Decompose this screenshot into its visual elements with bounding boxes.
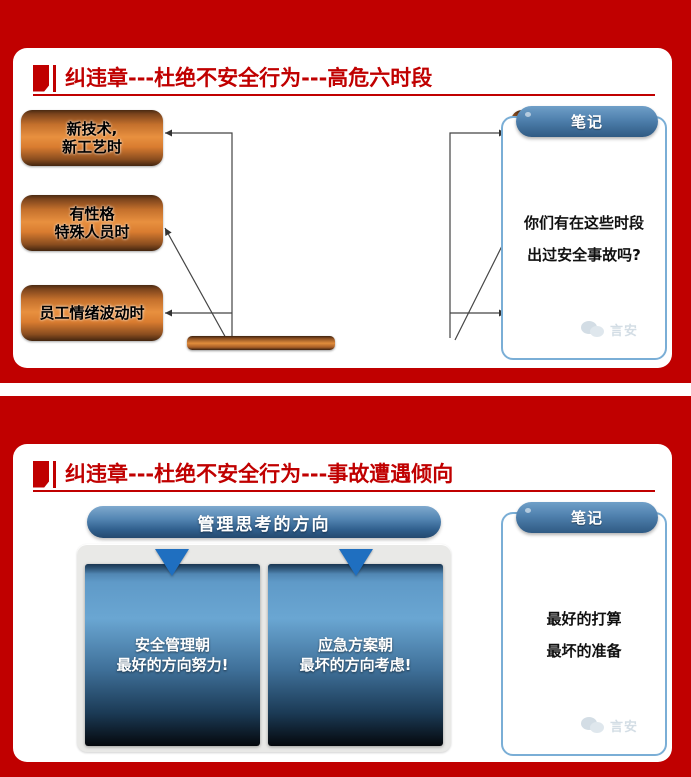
note-header-1-label: 笔记 xyxy=(571,111,603,132)
watermark-2: 言安 xyxy=(581,716,638,735)
management-direction-banner: 管理思考的方向 xyxy=(87,506,441,538)
slide2-content-panel: 纠违章---杜绝不安全行为---事故遭遇倾向 管理思考的方向 安全管理朝最好的方… xyxy=(13,444,672,762)
note-line-1: 最好的打算 xyxy=(503,604,665,636)
slide-deck: 纠违章---杜绝不安全行为---高危六时段 xyxy=(0,0,691,777)
note-card-2-body: 最好的打算 最坏的准备 xyxy=(503,604,665,667)
down-arrow-icon-1 xyxy=(155,549,189,576)
note-card-1: 你们有在这些时段 出过安全事故吗? 言安 xyxy=(501,116,667,360)
slide-high-risk-periods: 纠违章---杜绝不安全行为---高危六时段 xyxy=(0,0,691,383)
watermark-2-text: 言安 xyxy=(610,716,638,735)
note-line-1: 你们有在这些时段 xyxy=(503,208,665,240)
management-direction-banner-label: 管理思考的方向 xyxy=(198,510,331,535)
wechat-icon xyxy=(581,321,607,339)
source-bar xyxy=(187,336,335,350)
watermark-1-text: 言安 xyxy=(610,320,638,339)
note-card-2: 最好的打算 最坏的准备 言安 xyxy=(501,512,667,756)
page-flag-icon xyxy=(33,461,49,488)
direction-panel-1-label: 安全管理朝最好的方向努力! xyxy=(117,635,229,676)
down-arrow-icon-2 xyxy=(339,549,373,576)
watermark-1: 言安 xyxy=(581,320,638,339)
note-header-2-label: 笔记 xyxy=(571,507,603,528)
direction-panel-2-label: 应急方案朝最坏的方向考虑! xyxy=(300,635,412,676)
wechat-icon xyxy=(581,717,607,735)
risk-box-left-2-label: 有性格特殊人员时 xyxy=(54,205,129,242)
note-card-1-body: 你们有在这些时段 出过安全事故吗? xyxy=(503,208,665,271)
note-line-2: 出过安全事故吗? xyxy=(503,240,665,272)
risk-box-left-3[interactable]: 员工情绪波动时 xyxy=(21,285,163,341)
page-title: 纠违章---杜绝不安全行为---事故遭遇倾向 xyxy=(65,464,453,485)
title-divider xyxy=(53,461,56,488)
note-line-2: 最坏的准备 xyxy=(503,636,665,668)
note-header-2: 笔记 xyxy=(516,502,658,533)
risk-box-left-1[interactable]: 新技术,新工艺时 xyxy=(21,110,163,166)
risk-box-left-3-label: 员工情绪波动时 xyxy=(39,304,144,322)
slide1-content-panel: 纠违章---杜绝不安全行为---高危六时段 xyxy=(13,48,672,368)
title-underline xyxy=(33,490,655,492)
slide-accident-tendency: 纠违章---杜绝不安全行为---事故遭遇倾向 管理思考的方向 安全管理朝最好的方… xyxy=(0,396,691,777)
risk-box-left-2[interactable]: 有性格特殊人员时 xyxy=(21,195,163,251)
note-header-1: 笔记 xyxy=(516,106,658,137)
direction-panel-2[interactable]: 应急方案朝最坏的方向考虑! xyxy=(268,564,443,746)
direction-panel-1[interactable]: 安全管理朝最好的方向努力! xyxy=(85,564,260,746)
slide2-title-row: 纠违章---杜绝不安全行为---事故遭遇倾向 xyxy=(33,456,653,492)
risk-box-left-1-label: 新技术,新工艺时 xyxy=(62,120,122,157)
